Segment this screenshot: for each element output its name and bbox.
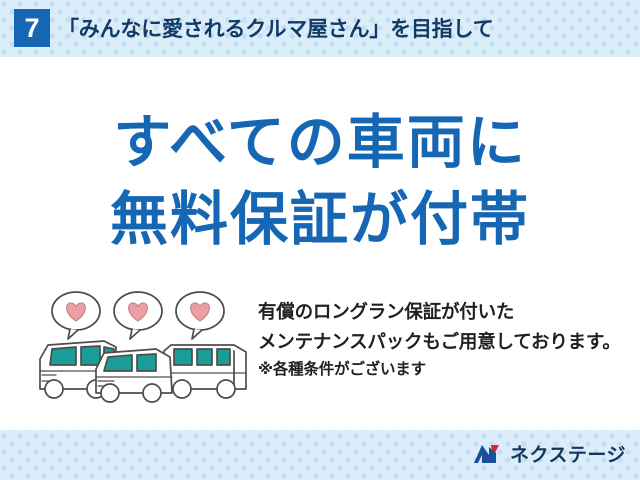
copy-line-2: メンテナンスパックもご用意しております。 — [258, 327, 634, 357]
three-cars-illustration — [34, 289, 256, 409]
headline-line-2: 無料保証が付帯 — [0, 182, 640, 259]
nextage-logo-text: ネクステージ — [510, 440, 626, 467]
headline: すべての車両に 無料保証が付帯 — [0, 105, 640, 258]
illustration-and-copy-row: 有償のロングラン保証が付いた メンテナンスパックもご用意しております。 ※各種条… — [0, 289, 640, 419]
copy-note: ※各種条件がございます — [258, 357, 634, 383]
header-band: 7 「みんなに愛されるクルマ屋さん」を目指して — [0, 0, 640, 57]
main-white-panel: すべての車両に 無料保証が付帯 — [0, 57, 640, 430]
copy-block: 有償のロングラン保証が付いた メンテナンスパックもご用意しております。 ※各種条… — [258, 297, 634, 383]
footer-band: ネクステージ — [0, 430, 640, 480]
advertisement-banner: 7 「みんなに愛されるクルマ屋さん」を目指して すべての車両に 無料保証が付帯 — [0, 0, 640, 480]
section-number-badge: 7 — [14, 9, 50, 47]
nextage-logo: ネクステージ — [473, 440, 626, 467]
header-title: 「みんなに愛されるクルマ屋さん」を目指して — [58, 13, 494, 43]
copy-line-1: 有償のロングラン保証が付いた — [258, 297, 634, 327]
headline-line-1: すべての車両に — [0, 105, 640, 182]
nextage-n-mark-icon — [473, 443, 503, 465]
